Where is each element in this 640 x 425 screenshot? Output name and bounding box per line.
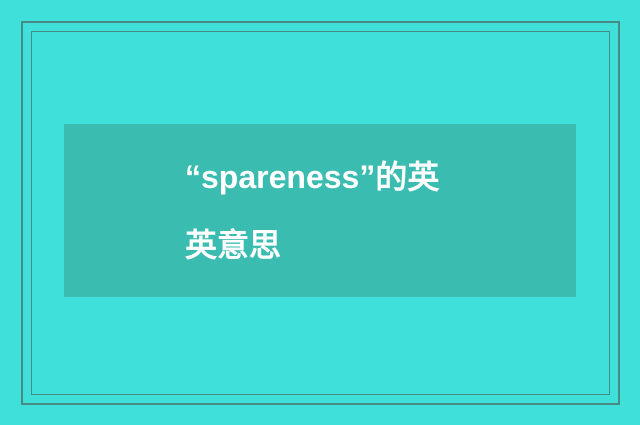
title-panel: “spareness”的英英意思 [64, 124, 576, 297]
page-title: “spareness”的英英意思 [185, 143, 455, 279]
page-canvas: “spareness”的英英意思 [0, 0, 640, 425]
